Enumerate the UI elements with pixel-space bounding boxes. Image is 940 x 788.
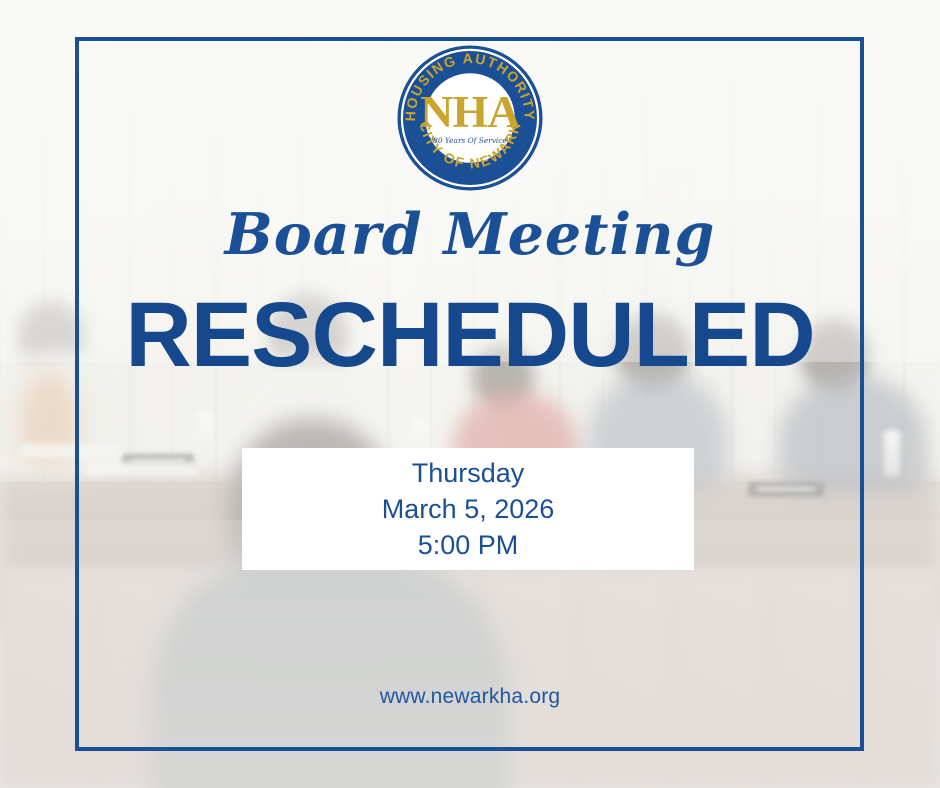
logo-tagline: "80 Years Of Service" [430, 136, 510, 145]
flyer-content: HOUSING AUTHORITY CITY OF NEWARK NHA "80… [0, 0, 940, 788]
script-title: Board Meeting [0, 202, 940, 268]
date-time-card: Thursday March 5, 2026 5:00 PM [242, 448, 694, 570]
flyer-canvas: HOUSING AUTHORITY CITY OF NEWARK NHA "80… [0, 0, 940, 788]
meeting-date: March 5, 2026 [382, 492, 555, 528]
website-url[interactable]: www.newarkha.org [0, 685, 940, 709]
page-title: RESCHEDULED [0, 289, 940, 381]
meeting-day: Thursday [412, 456, 525, 492]
nha-logo: HOUSING AUTHORITY CITY OF NEWARK NHA "80… [396, 44, 544, 192]
meeting-time: 5:00 PM [418, 528, 519, 564]
logo-monogram: NHA [420, 86, 520, 137]
